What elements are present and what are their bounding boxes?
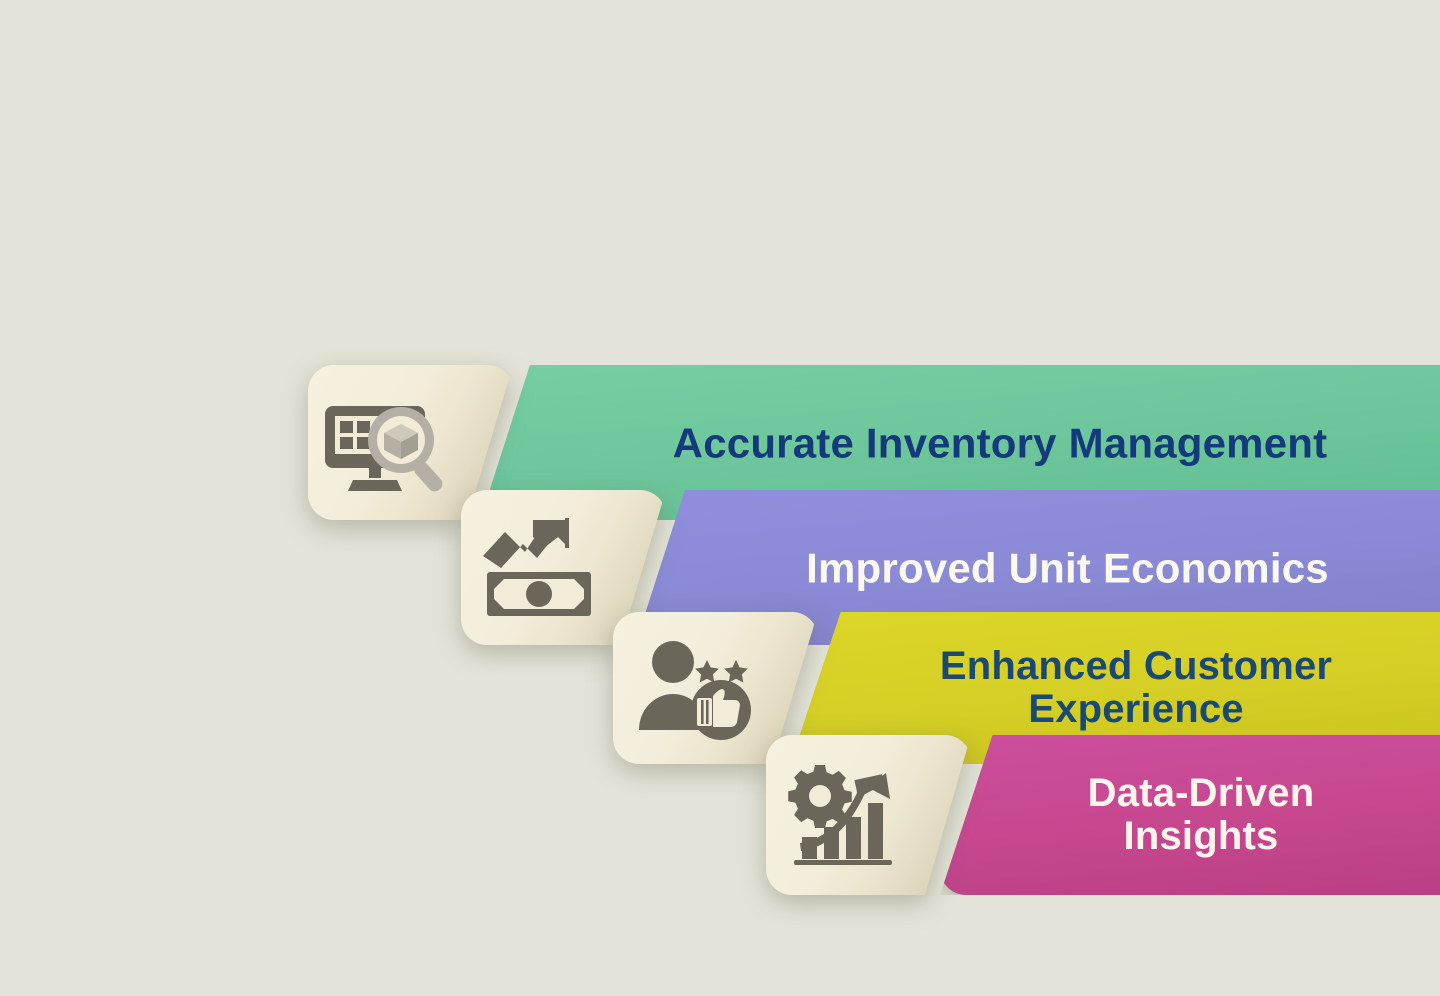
growth-arrow-banknote-icon <box>479 514 605 622</box>
benefit-label-4: Data-Driven Insights <box>1050 772 1352 858</box>
customer-rating-thumbsup-icon <box>635 634 761 742</box>
benefit-label-2: Improved Unit Economics <box>785 545 1350 590</box>
benefit-label-3: Enhanced Customer Experience <box>920 645 1352 731</box>
gear-bar-chart-growth-icon <box>788 761 914 869</box>
benefit-icon-tile-4[interactable] <box>766 735 971 895</box>
infographic-canvas: Accurate Inventory Management <box>0 0 1440 996</box>
benefit-row-4[interactable]: Data-Driven Insights <box>0 735 1440 895</box>
monitor-magnifier-cube-icon <box>322 387 452 499</box>
benefit-label-1: Accurate Inventory Management <box>650 420 1350 465</box>
benefit-banner-4[interactable]: Data-Driven Insights <box>940 735 1440 895</box>
